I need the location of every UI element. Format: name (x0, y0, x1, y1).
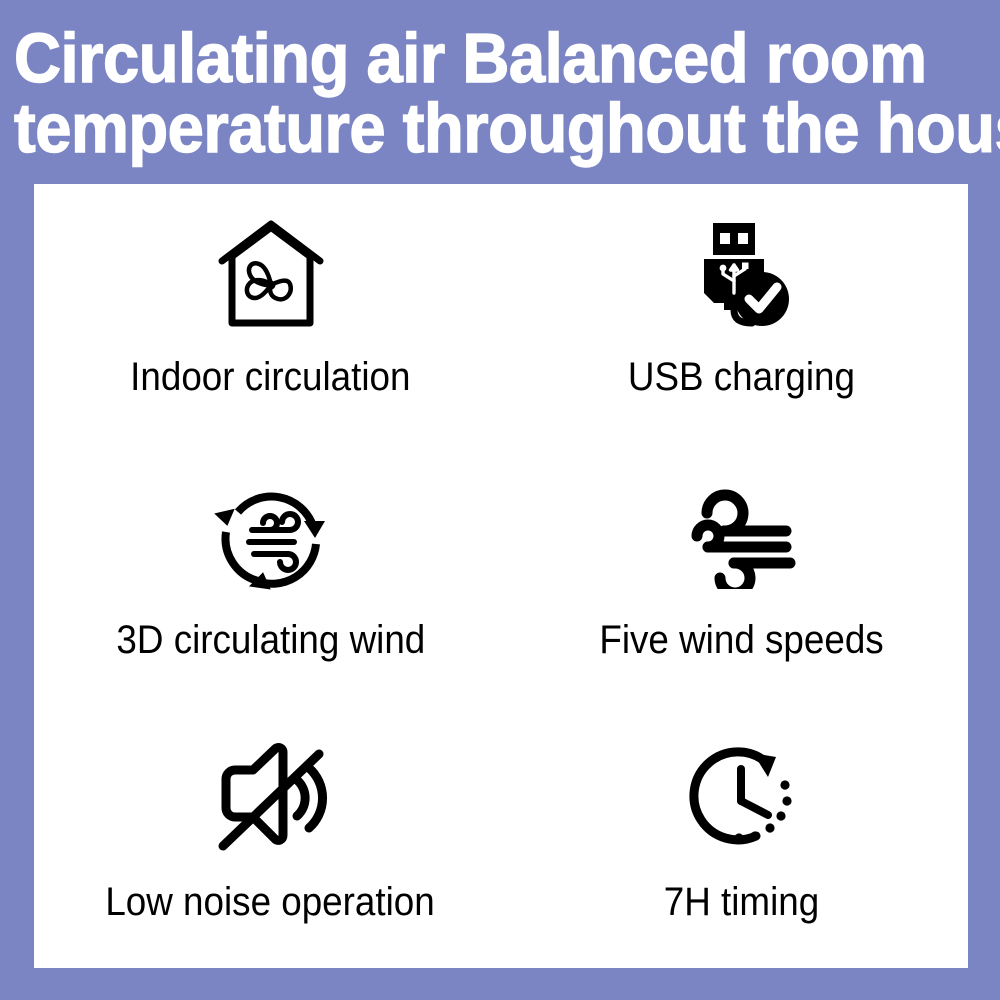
feature-item-five-wind-speeds: Five wind speeds (501, 445, 968, 706)
mute-speaker-icon (206, 739, 336, 859)
title-line-1: Circulating air Balanced room (14, 30, 921, 87)
house-fan-icon (206, 216, 336, 334)
promo-banner: Circulating air Balanced room temperatur… (0, 0, 1000, 1000)
feature-label: Five wind speeds (599, 617, 883, 663)
timer-clock-icon (677, 739, 807, 859)
feature-label: USB charging (628, 354, 855, 400)
feature-item-3d-circulating-wind: 3D circulating wind (34, 445, 501, 706)
feature-label: 7H timing (664, 879, 819, 925)
feature-label: Indoor circulation (130, 354, 410, 400)
feature-item-low-noise-operation: Low noise operation (34, 707, 501, 968)
feature-label: 3D circulating wind (116, 617, 425, 663)
feature-item-7h-timing: 7H timing (501, 707, 968, 968)
circulating-wind-icon (206, 477, 336, 597)
feature-grid: Indoor circulation (34, 184, 968, 968)
wind-speed-icon (677, 477, 807, 597)
feature-item-usb-charging: USB charging (501, 184, 968, 445)
page-title: Circulating air Balanced room temperatur… (14, 16, 921, 157)
feature-panel: Indoor circulation (34, 184, 968, 968)
title-line-2: temperature throughout the house (14, 100, 921, 157)
feature-label: Low noise operation (106, 879, 435, 925)
feature-item-indoor-circulation: Indoor circulation (34, 184, 501, 445)
usb-check-icon (677, 216, 807, 334)
